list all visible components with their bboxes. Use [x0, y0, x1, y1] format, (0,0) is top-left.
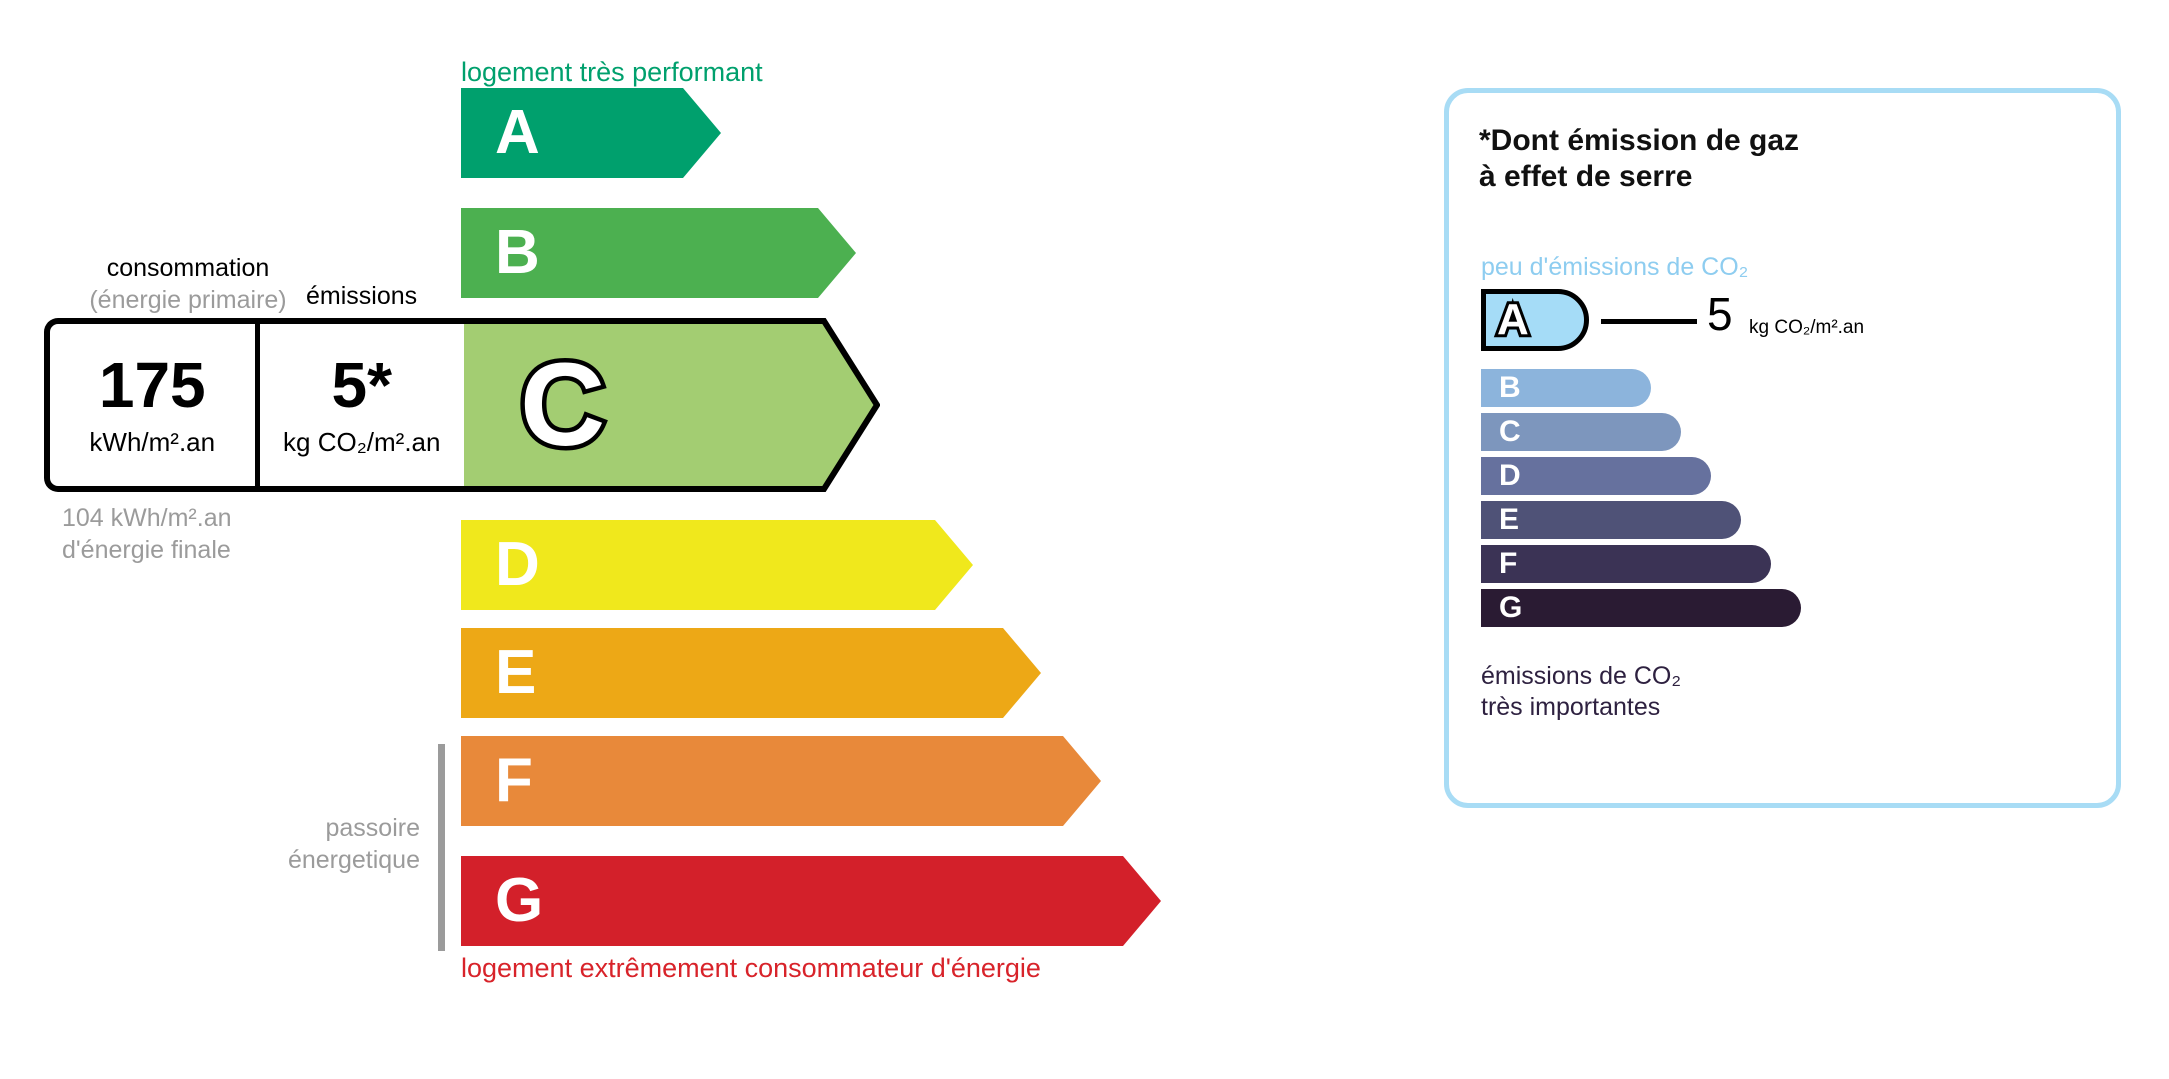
dpe-diagram: logement très performant ABDEFG consomma…	[0, 0, 2169, 1079]
energy-letter-b: B	[495, 222, 540, 284]
emissions-header: émissions	[306, 282, 417, 311]
passoire-label-line1: passoire	[180, 812, 420, 844]
ghg-letter-f: F	[1499, 549, 1517, 579]
ghg-bar-f	[1481, 545, 1771, 583]
passoire-marker-bar	[438, 744, 445, 951]
final-energy-label: d'énergie finale	[62, 534, 232, 566]
emission-unit: kg CO₂/m².an	[283, 427, 440, 458]
energy-bar-d: D	[461, 520, 973, 610]
final-energy-value: 104 kWh/m².an	[62, 502, 232, 534]
ghg-letter-e: E	[1499, 505, 1519, 535]
energy-arrow-b: B	[461, 208, 856, 298]
ghg-row-c: C	[1481, 413, 1681, 451]
passoire-label: passoire énergetique	[180, 812, 420, 876]
ghg-bottom-line1: émissions de CO₂	[1481, 661, 1681, 692]
ghg-row-e: E	[1481, 501, 1741, 539]
energy-ladder: logement très performant ABDEFG consomma…	[0, 0, 1380, 1079]
consumption-value: 175	[99, 353, 206, 417]
energy-arrow-e: E	[461, 628, 1041, 718]
consumption-header-line1: consommation	[68, 253, 308, 285]
energy-bar-b: B	[461, 208, 856, 298]
ghg-row-d: D	[1481, 457, 1711, 495]
energy-letter-f: F	[495, 750, 533, 812]
rating-letter: C	[520, 346, 605, 464]
energy-letter-e: E	[495, 642, 536, 704]
final-energy-note: 104 kWh/m².an d'énergie finale	[62, 502, 232, 566]
energy-arrow-shape-g	[461, 856, 1161, 946]
ghg-letter-c: C	[1499, 417, 1521, 447]
ghg-letter-b: B	[1499, 373, 1521, 403]
ghg-bar-e	[1481, 501, 1741, 539]
ghg-top-caption: peu d'émissions de CO₂	[1481, 253, 1748, 282]
energy-arrow-shape-f	[461, 736, 1101, 826]
ghg-bottom-line2: très importantes	[1481, 692, 1681, 723]
ghg-bar-g	[1481, 589, 1801, 627]
consumption-cell: 175 kWh/m².an	[50, 324, 260, 486]
energy-arrow-f: F	[461, 736, 1101, 826]
energy-arrow-d: D	[461, 520, 973, 610]
emission-value: 5*	[332, 353, 393, 417]
ghg-panel: *Dont émission de gaz à effet de serre p…	[1444, 88, 2121, 808]
energy-arrow-a: A	[461, 88, 721, 178]
emission-cell: 5* kg CO₂/m².an	[260, 324, 465, 486]
rating-row: C 175 kWh/m².an 5* kg CO₂/m².an	[44, 318, 880, 492]
energy-arrow-shape-e	[461, 628, 1041, 718]
ghg-row-b: B	[1481, 369, 1651, 407]
energy-bar-a: A	[461, 88, 721, 178]
energy-bar-f: F	[461, 736, 1101, 826]
ghg-title-line2: à effet de serre	[1479, 159, 1799, 195]
consumption-header-line2: (énergie primaire)	[68, 285, 308, 317]
ghg-title-line1: *Dont émission de gaz	[1479, 123, 1799, 159]
consumption-header: consommation (énergie primaire)	[68, 253, 308, 316]
energy-letter-g: G	[495, 870, 543, 932]
ghg-leader-line	[1601, 319, 1697, 324]
ghg-panel-title: *Dont émission de gaz à effet de serre	[1479, 123, 1799, 195]
ladder-top-caption: logement très performant	[461, 57, 763, 88]
energy-letter-a: A	[495, 102, 540, 164]
energy-bar-g: G	[461, 856, 1161, 946]
ghg-bottom-caption: émissions de CO₂ très importantes	[1481, 661, 1681, 722]
ghg-row-f: F	[1481, 545, 1771, 583]
energy-letter-d: D	[495, 534, 540, 596]
passoire-label-line2: énergetique	[180, 844, 420, 876]
consumption-unit: kWh/m².an	[89, 427, 215, 458]
energy-arrow-g: G	[461, 856, 1161, 946]
ghg-value-unit: kg CO₂/m².an	[1749, 317, 1864, 339]
rating-band: C	[458, 318, 880, 492]
ghg-letter-a: A	[1497, 298, 1529, 342]
ghg-value: 5	[1707, 291, 1733, 337]
ghg-letter-g: G	[1499, 593, 1522, 623]
energy-bar-e: E	[461, 628, 1041, 718]
ghg-letter-d: D	[1499, 461, 1521, 491]
ghg-row-g: G	[1481, 589, 1801, 627]
ladder-bottom-caption: logement extrêmement consommateur d'éner…	[461, 953, 1041, 984]
values-box: 175 kWh/m².an 5* kg CO₂/m².an	[44, 318, 464, 492]
